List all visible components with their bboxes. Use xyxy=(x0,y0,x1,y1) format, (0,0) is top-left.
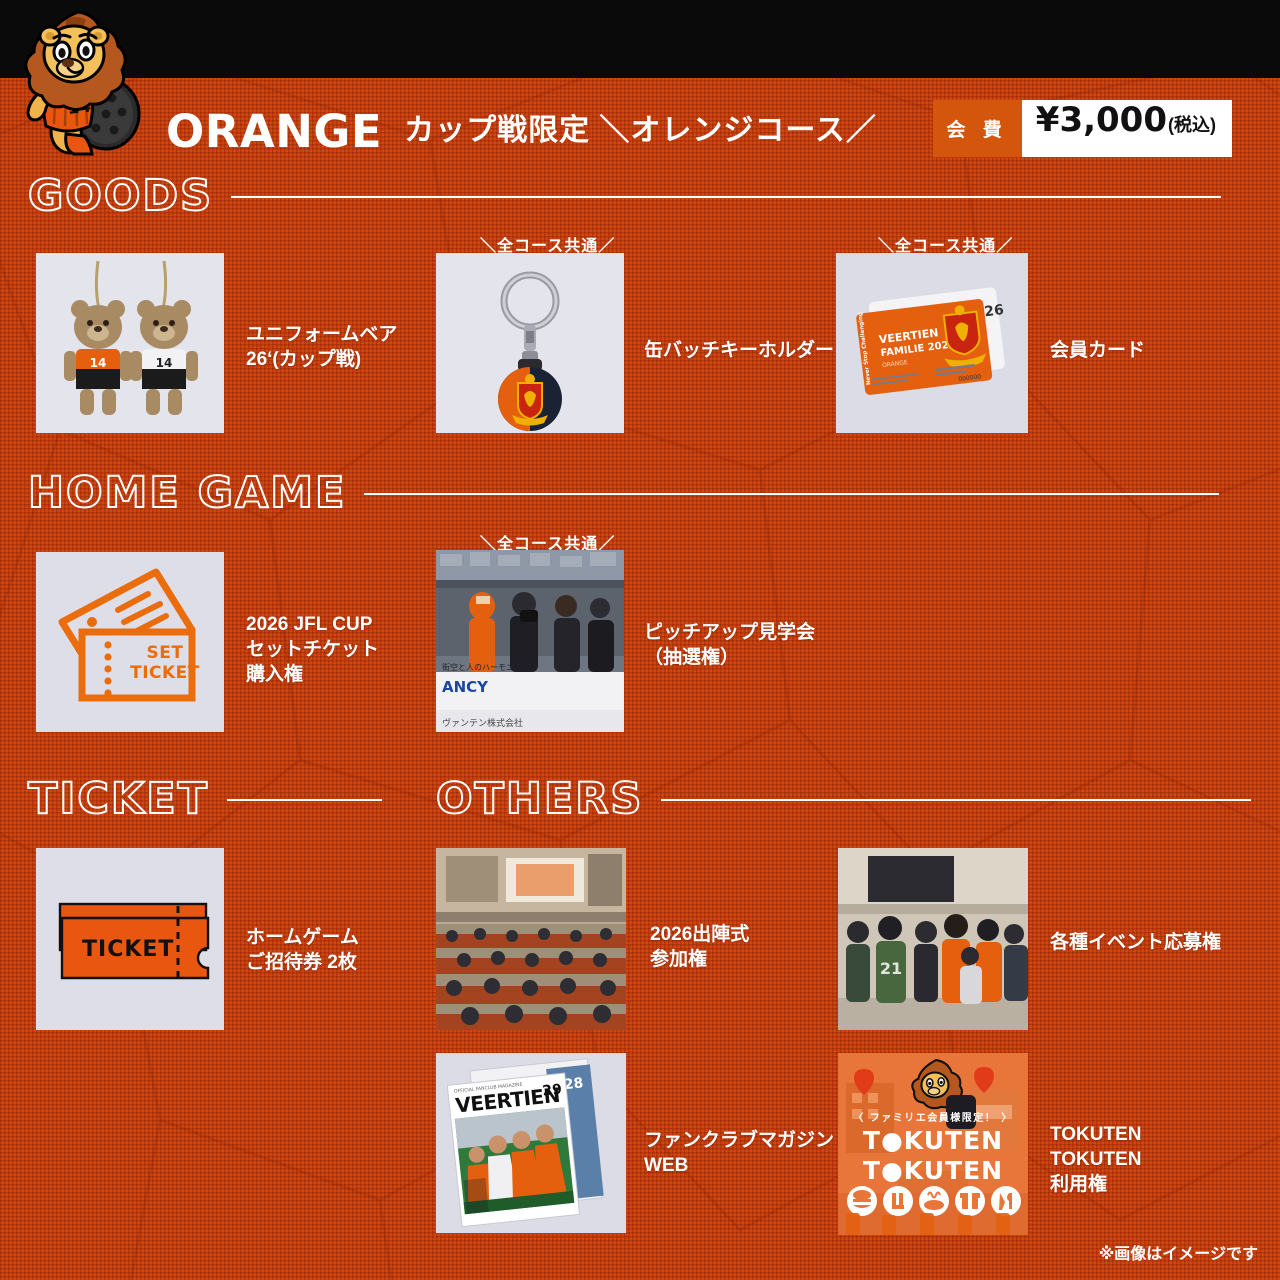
section-header-goods: GOODS xyxy=(28,175,1258,218)
course-header: ORANGE カップ戦限定 ＼オレンジコース／ 会 費 ¥3,000(税込) xyxy=(166,100,1256,162)
fee-label: 会 費 xyxy=(933,100,1022,157)
section-header-ticket: TICKET xyxy=(28,778,382,821)
image-disclaimer-note: ※画像はイメージです xyxy=(1099,1240,1258,1264)
membership-fee-badge: 会 費 ¥3,000(税込) xyxy=(933,100,1232,157)
item-label-departure-ceremony: 2026出陣式 参加権 xyxy=(650,922,850,972)
tokuten-banner: 〈 ファミリエ会員様限定！ 〉 T●KUTEN T●KUTEN xyxy=(838,1053,1028,1235)
svg-text:〈 ファミリエ会員様限定！ 〉: 〈 ファミリエ会員様限定！ 〉 xyxy=(853,1111,1012,1124)
item-label-member-card: 会員カード xyxy=(1050,338,1250,363)
svg-text:29: 29 xyxy=(542,1082,563,1100)
set-ticket-illustration-text: SET TICKET xyxy=(120,644,210,683)
section-header-home-game: HOME GAME xyxy=(28,472,1258,515)
section-title-goods: GOODS xyxy=(28,175,213,218)
fee-tax-note: (税込) xyxy=(1168,111,1216,137)
departure-ceremony-photo xyxy=(436,848,626,1030)
item-label-event-application-right: 各種イベント応募権 xyxy=(1050,930,1270,955)
section-header-others: OTHERS xyxy=(436,778,1251,821)
set-ticket-illustration: SET TICKET xyxy=(36,552,224,732)
svg-text:14: 14 xyxy=(90,356,107,370)
svg-text:14: 14 xyxy=(156,356,173,370)
section-title-others: OTHERS xyxy=(436,778,643,821)
svg-text:ANCY: ANCY xyxy=(442,678,489,696)
uniform-bear-plush-photo: 14 14 xyxy=(36,253,224,433)
ticket-illustration: TICKET xyxy=(36,848,224,1030)
course-subtitle: カップ戦限定 ＼オレンジコース／ xyxy=(404,116,877,146)
svg-text:TICKET: TICKET xyxy=(82,937,174,962)
item-label-uniform-bear: ユニフォームベア 26‘(カップ戦) xyxy=(246,322,446,372)
item-label-set-ticket: 2026 JFL CUP セットチケット 購入権 xyxy=(246,612,456,687)
item-label-home-game-invitation: ホームゲーム ご招待券 2枚 xyxy=(246,925,456,975)
section-rule xyxy=(661,799,1251,801)
item-label-tokuten-usage-right: TOKUTEN TOKUTEN 利用権 xyxy=(1050,1122,1270,1197)
fee-amount-value: ¥3,000 xyxy=(1036,100,1167,140)
member-card-photo: VEERTIEN FAMILIE 2026 ORANGE Never Stop … xyxy=(836,253,1028,433)
pitch-up-tour-photo: ANCY ヴァンテン株式会社 街空と人のハーモニー xyxy=(436,550,624,732)
veertien-lion-mascot-icon: 14 xyxy=(8,6,148,166)
item-label-pitch-up-tour: ピッチアップ見学会 （抽選権） xyxy=(644,620,884,670)
section-rule xyxy=(231,196,1221,198)
fan-event-photo: 21 xyxy=(838,848,1028,1030)
svg-text:ヴァンテン株式会社: ヴァンテン株式会社 xyxy=(442,717,523,729)
svg-text:T●KUTEN: T●KUTEN xyxy=(863,1156,1003,1185)
section-title-ticket: TICKET xyxy=(28,778,209,821)
section-rule xyxy=(364,493,1219,495)
svg-text:26: 26 xyxy=(983,302,1004,320)
svg-text:T●KUTEN: T●KUTEN xyxy=(863,1126,1003,1155)
fanclub-magazine-photo: 28 OFFICIAL FANCLUB MAGAZINE VEERTIEN 29 xyxy=(436,1053,626,1233)
fee-amount: ¥3,000(税込) xyxy=(1022,100,1232,157)
can-badge-keyholder-photo xyxy=(436,253,624,433)
section-title-home-game: HOME GAME xyxy=(28,472,346,515)
course-name: ORANGE xyxy=(166,109,382,154)
svg-text:街空と人のハーモニー: 街空と人のハーモニー xyxy=(442,662,522,672)
section-rule xyxy=(227,799,382,801)
svg-text:21: 21 xyxy=(880,959,902,978)
